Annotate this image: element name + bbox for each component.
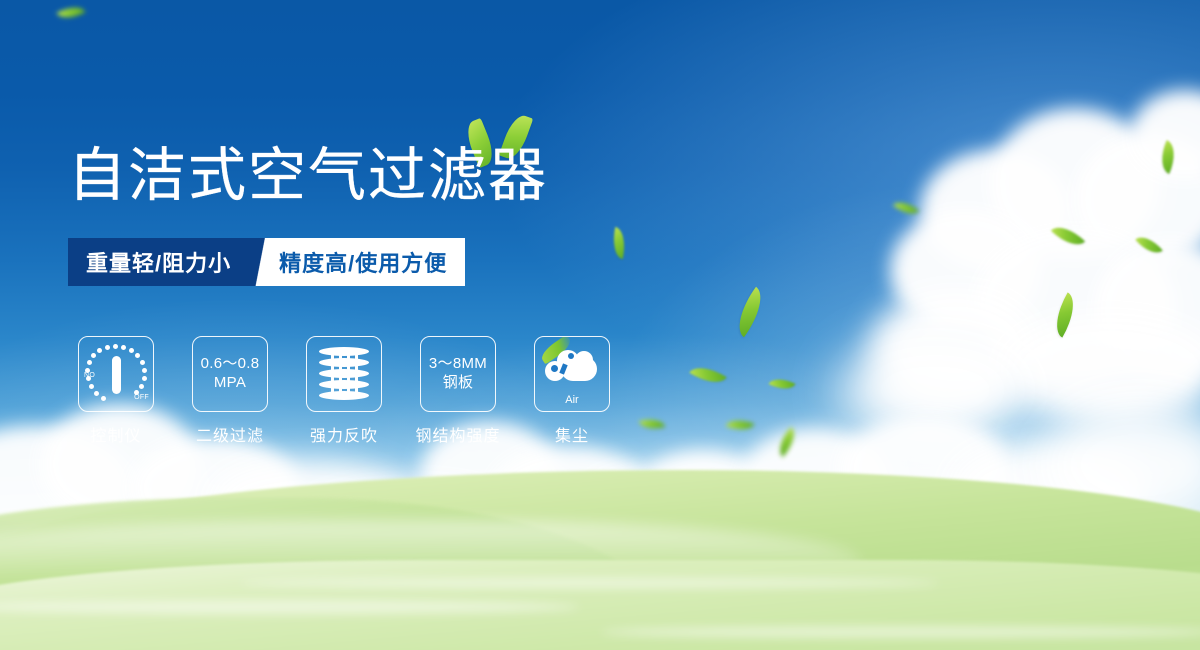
- page-title: 自洁式空气过滤器: [68, 146, 548, 207]
- floating-leaf: [56, 1, 85, 25]
- cumulus-cloud-right: [880, 90, 1200, 420]
- feature-list: NO OFF 控制仪 0.6〜0.8 MPA 二级过滤: [78, 336, 610, 446]
- floating-leaf: [728, 287, 772, 338]
- feature-caption: 强力反吹: [310, 422, 378, 446]
- feature-caption: 二级过滤: [196, 422, 264, 446]
- steel-value-line2: 钢板: [443, 374, 474, 393]
- gauge-label-off: OFF: [134, 394, 149, 401]
- feature-icon-box: 3〜8MM 钢板: [420, 336, 496, 412]
- gauge-label-no: NO: [84, 372, 95, 379]
- gauge-icon: NO OFF: [85, 344, 147, 404]
- feature-caption: 控制仪: [90, 422, 141, 446]
- feature-caption: 集尘: [555, 422, 589, 446]
- subtitle-bar: 重量轻/阻力小 精度高/使用方便: [68, 238, 465, 286]
- subtitle-right-segment: 精度高/使用方便: [275, 238, 465, 286]
- pressure-value-line2: MPA: [214, 374, 246, 393]
- feature-icon-box: 0.6〜0.8 MPA: [192, 336, 268, 412]
- subtitle-divider-slash: [249, 238, 275, 286]
- feature-caption: 钢结构强度: [416, 422, 501, 446]
- air-label: Air: [541, 394, 603, 406]
- feature-item-dust[interactable]: Air 集尘: [534, 336, 610, 446]
- feature-icon-box: Air: [534, 336, 610, 412]
- pressure-value-line1: 0.6〜0.8: [201, 355, 260, 374]
- feature-item-filtration[interactable]: 0.6〜0.8 MPA 二级过滤: [192, 336, 268, 446]
- stacked-filter-icon: [316, 345, 372, 403]
- feature-icon-box: NO OFF: [78, 336, 154, 412]
- steel-value-line1: 3〜8MM: [429, 355, 487, 374]
- feature-item-control[interactable]: NO OFF 控制仪: [78, 336, 154, 446]
- feature-icon-box: [306, 336, 382, 412]
- feature-item-steel[interactable]: 3〜8MM 钢板 钢结构强度: [420, 336, 496, 446]
- product-banner: 自洁式空气过滤器 重量轻/阻力小 精度高/使用方便: [0, 0, 1200, 650]
- grass-light-streak: [240, 578, 940, 588]
- floating-leaf: [609, 227, 629, 259]
- subtitle-left-segment: 重量轻/阻力小: [68, 238, 249, 286]
- feature-item-backblow[interactable]: 强力反吹: [306, 336, 382, 446]
- grass-light-streak: [0, 600, 580, 614]
- air-cloud-icon: Air: [541, 345, 603, 403]
- grass-light-streak: [600, 626, 1200, 638]
